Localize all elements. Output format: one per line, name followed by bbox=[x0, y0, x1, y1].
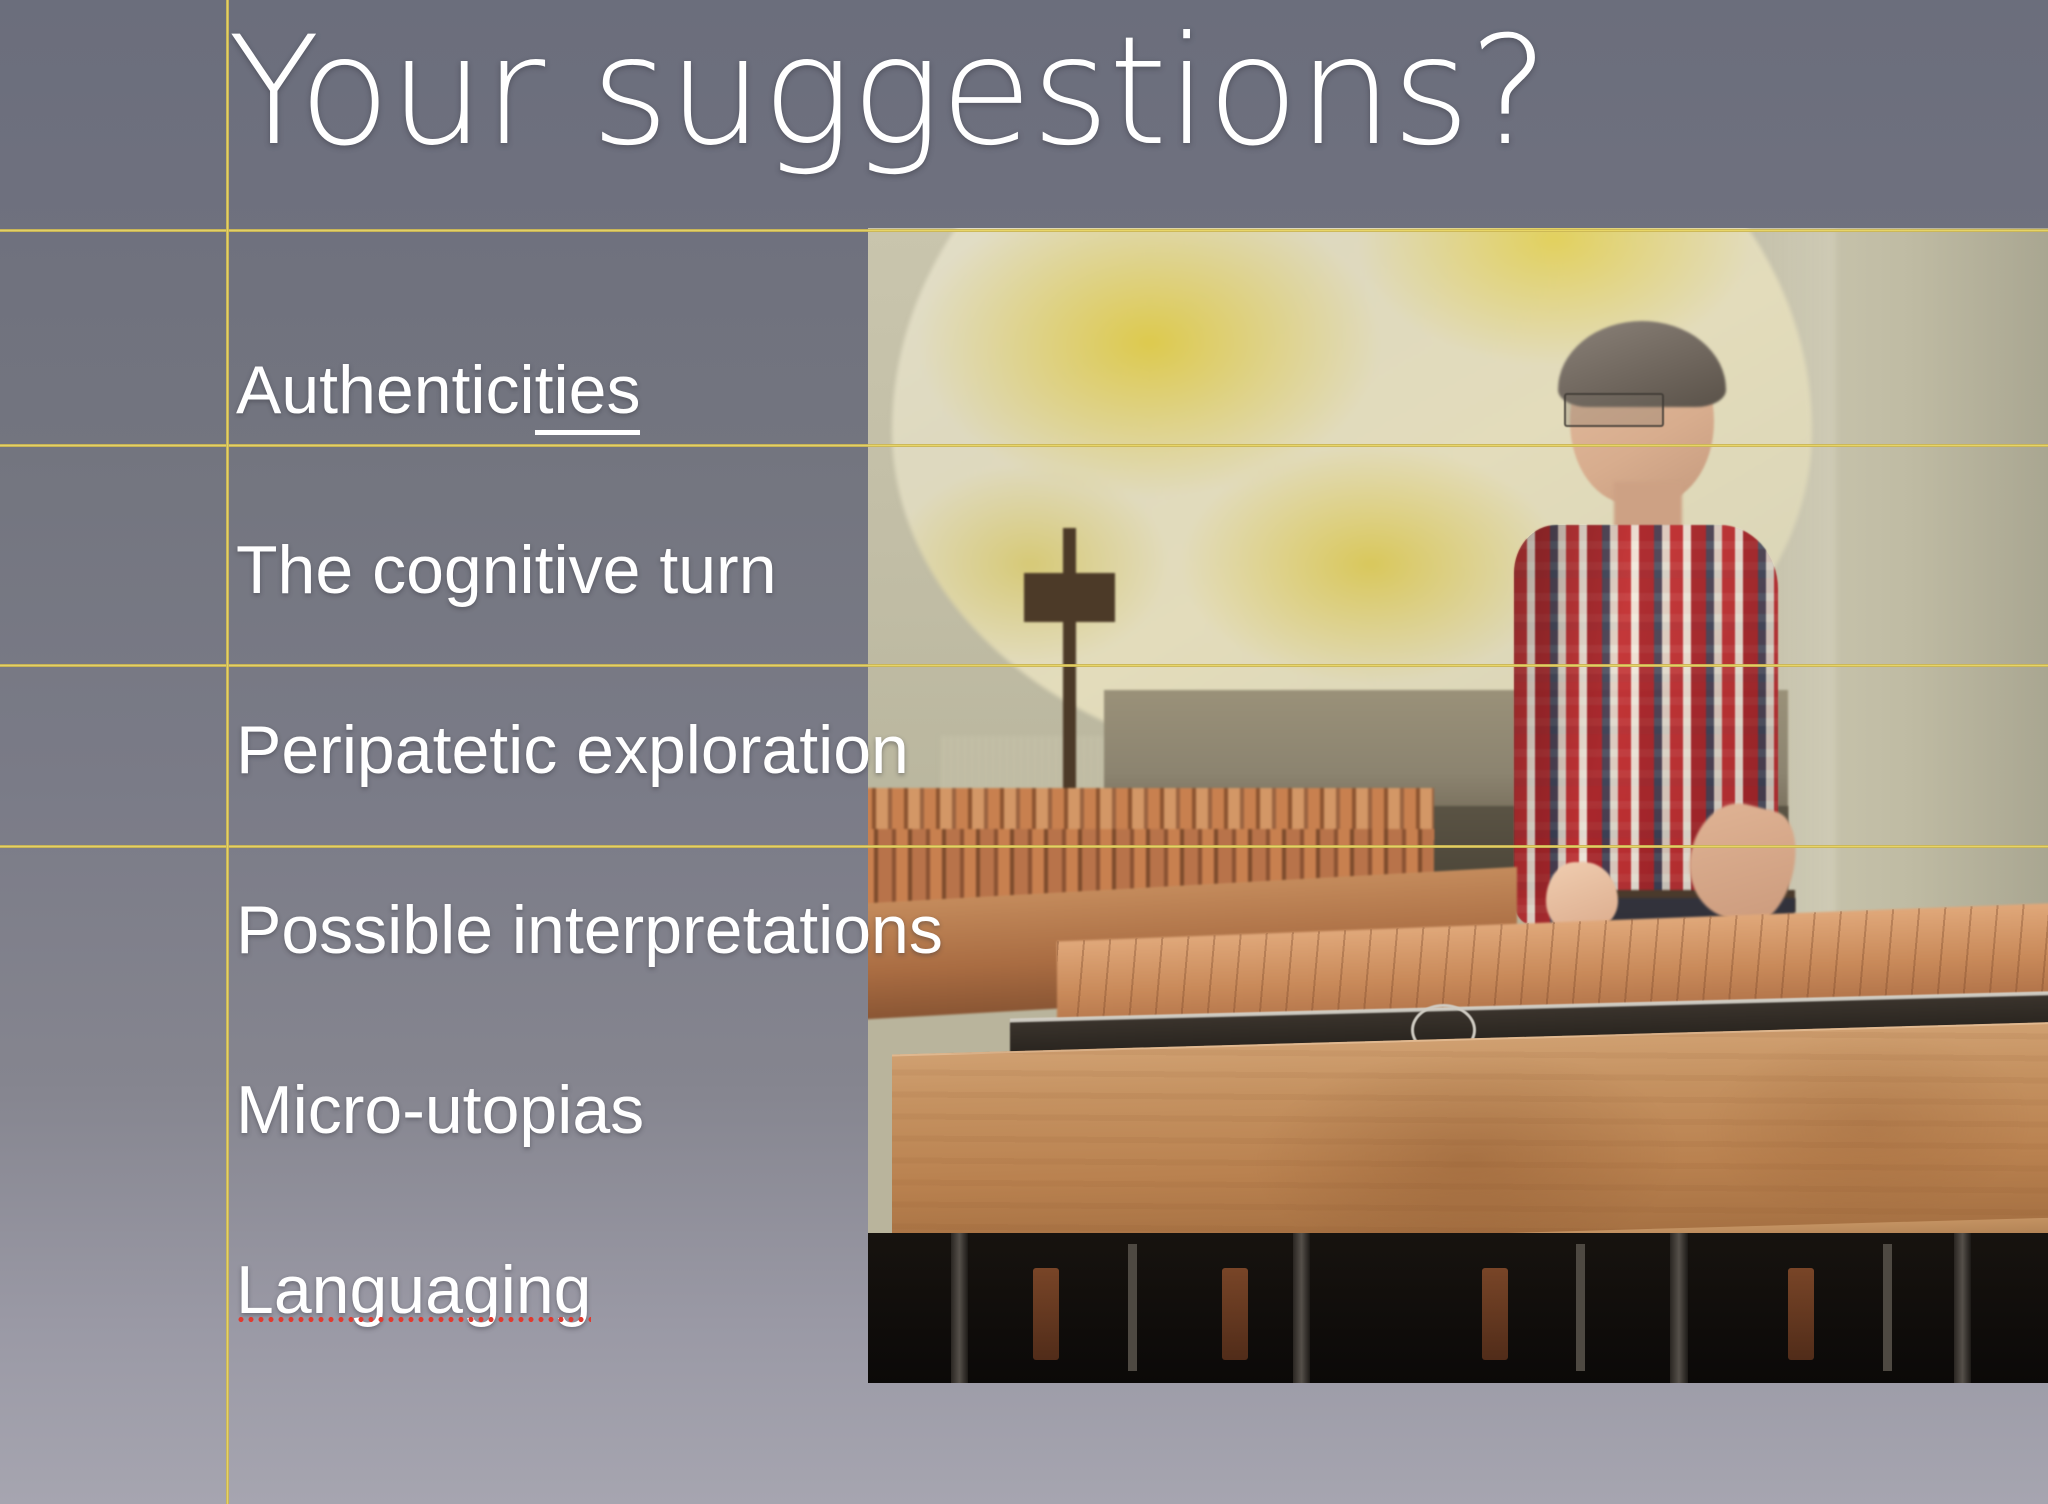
resonator-tube bbox=[1788, 1268, 1814, 1360]
bullet-text-underlined: ties bbox=[535, 352, 641, 435]
bullet-list: Authenticities The cognitive turn Peripa… bbox=[236, 356, 1636, 1324]
bullet-text: Peripatetic exploration bbox=[236, 712, 909, 788]
bullet-text-spellcheck: Languaging bbox=[236, 1252, 591, 1328]
bullet-text: Micro-utopias bbox=[236, 1072, 644, 1148]
slide-title[interactable]: Your suggestions? bbox=[228, 14, 1548, 172]
bullet-authenticities[interactable]: Authenticities bbox=[236, 356, 1636, 424]
guide-line-vertical[interactable] bbox=[226, 0, 229, 1504]
bullet-text: The cognitive turn bbox=[236, 532, 777, 608]
guide-line-horizontal[interactable] bbox=[0, 229, 2048, 232]
bullet-peripatetic-exploration[interactable]: Peripatetic exploration bbox=[236, 716, 1636, 784]
marimba-leg bbox=[1670, 1233, 1688, 1383]
marimba-leg bbox=[1954, 1233, 1972, 1383]
presentation-slide: Your suggestions? Authenticities The cog… bbox=[0, 0, 2048, 1504]
bullet-possible-interpretations[interactable]: Possible interpretations bbox=[236, 896, 1636, 964]
bullet-text: Possible interpretations bbox=[236, 892, 943, 968]
bullet-micro-utopias[interactable]: Micro-utopias bbox=[236, 1076, 1636, 1144]
bullet-cognitive-turn[interactable]: The cognitive turn bbox=[236, 536, 1636, 604]
stand-rod bbox=[1883, 1244, 1892, 1371]
bullet-text: Authentici bbox=[236, 352, 535, 428]
bullet-languaging[interactable]: Languaging bbox=[236, 1256, 1636, 1324]
